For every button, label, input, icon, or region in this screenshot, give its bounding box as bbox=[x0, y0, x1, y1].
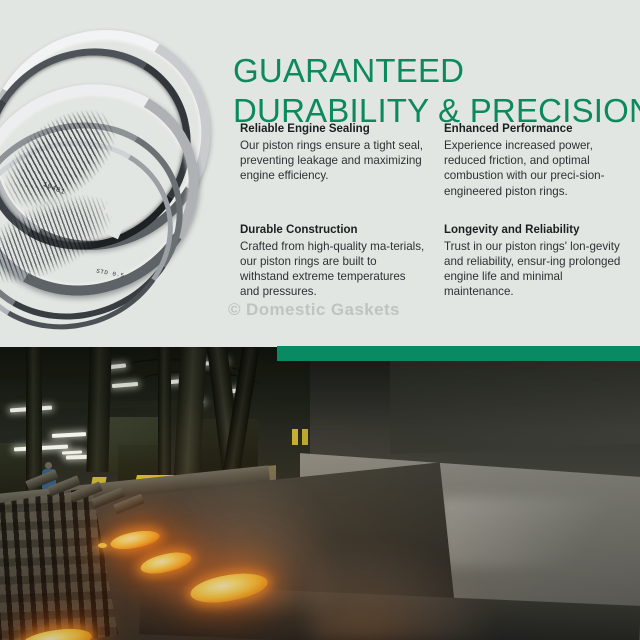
feature-reliable-engine-sealing: Reliable Engine Sealing Our piston rings… bbox=[240, 122, 426, 199]
feature-enhanced-performance: Enhanced Performance Experience increase… bbox=[444, 122, 630, 199]
structural-column bbox=[86, 347, 111, 472]
piston-ring-product-image: 10481 STD 0.5 MM bbox=[0, 8, 230, 338]
page-title: GUARANTEED DURABILITY & PRECISION bbox=[233, 51, 633, 131]
feature-row-top: Reliable Engine Sealing Our piston rings… bbox=[240, 122, 632, 199]
feature-title: Longevity and Reliability bbox=[444, 223, 630, 238]
heat-haze-secondary bbox=[310, 547, 490, 640]
feature-body: Our piston rings ensure a tight seal, pr… bbox=[240, 138, 426, 184]
feature-title: Durable Construction bbox=[240, 223, 426, 238]
factory-photo: 15 bbox=[0, 347, 640, 640]
concrete-wall-upper bbox=[390, 348, 640, 454]
feature-title: Enhanced Performance bbox=[444, 122, 630, 137]
promo-banner: 10481 STD 0.5 MM GUARANTEED DURABILITY &… bbox=[0, 0, 640, 640]
feature-body: Crafted from high-quality ma-terials, ou… bbox=[240, 239, 426, 300]
feature-durable-construction: Durable Construction Crafted from high-q… bbox=[240, 223, 426, 300]
green-accent-bar bbox=[277, 346, 640, 361]
feature-grid: Reliable Engine Sealing Our piston rings… bbox=[240, 122, 632, 300]
structural-column bbox=[158, 347, 171, 477]
yellow-bollard bbox=[292, 429, 298, 445]
top-content-section: 10481 STD 0.5 MM GUARANTEED DURABILITY &… bbox=[0, 0, 640, 346]
feature-body: Experience increased power, reduced fric… bbox=[444, 138, 630, 199]
feature-title: Reliable Engine Sealing bbox=[240, 122, 426, 137]
headline-line-1: GUARANTEED bbox=[233, 52, 464, 89]
yellow-bollard bbox=[302, 429, 308, 445]
worker-head bbox=[45, 462, 52, 469]
feature-body: Trust in our piston rings' lon-gevity an… bbox=[444, 239, 630, 300]
feature-row-bottom: Durable Construction Crafted from high-q… bbox=[240, 223, 632, 300]
feature-longevity-and-reliability: Longevity and Reliability Trust in our p… bbox=[444, 223, 630, 300]
watermark: © Domestic Gaskets bbox=[228, 300, 400, 320]
spark bbox=[98, 543, 107, 548]
